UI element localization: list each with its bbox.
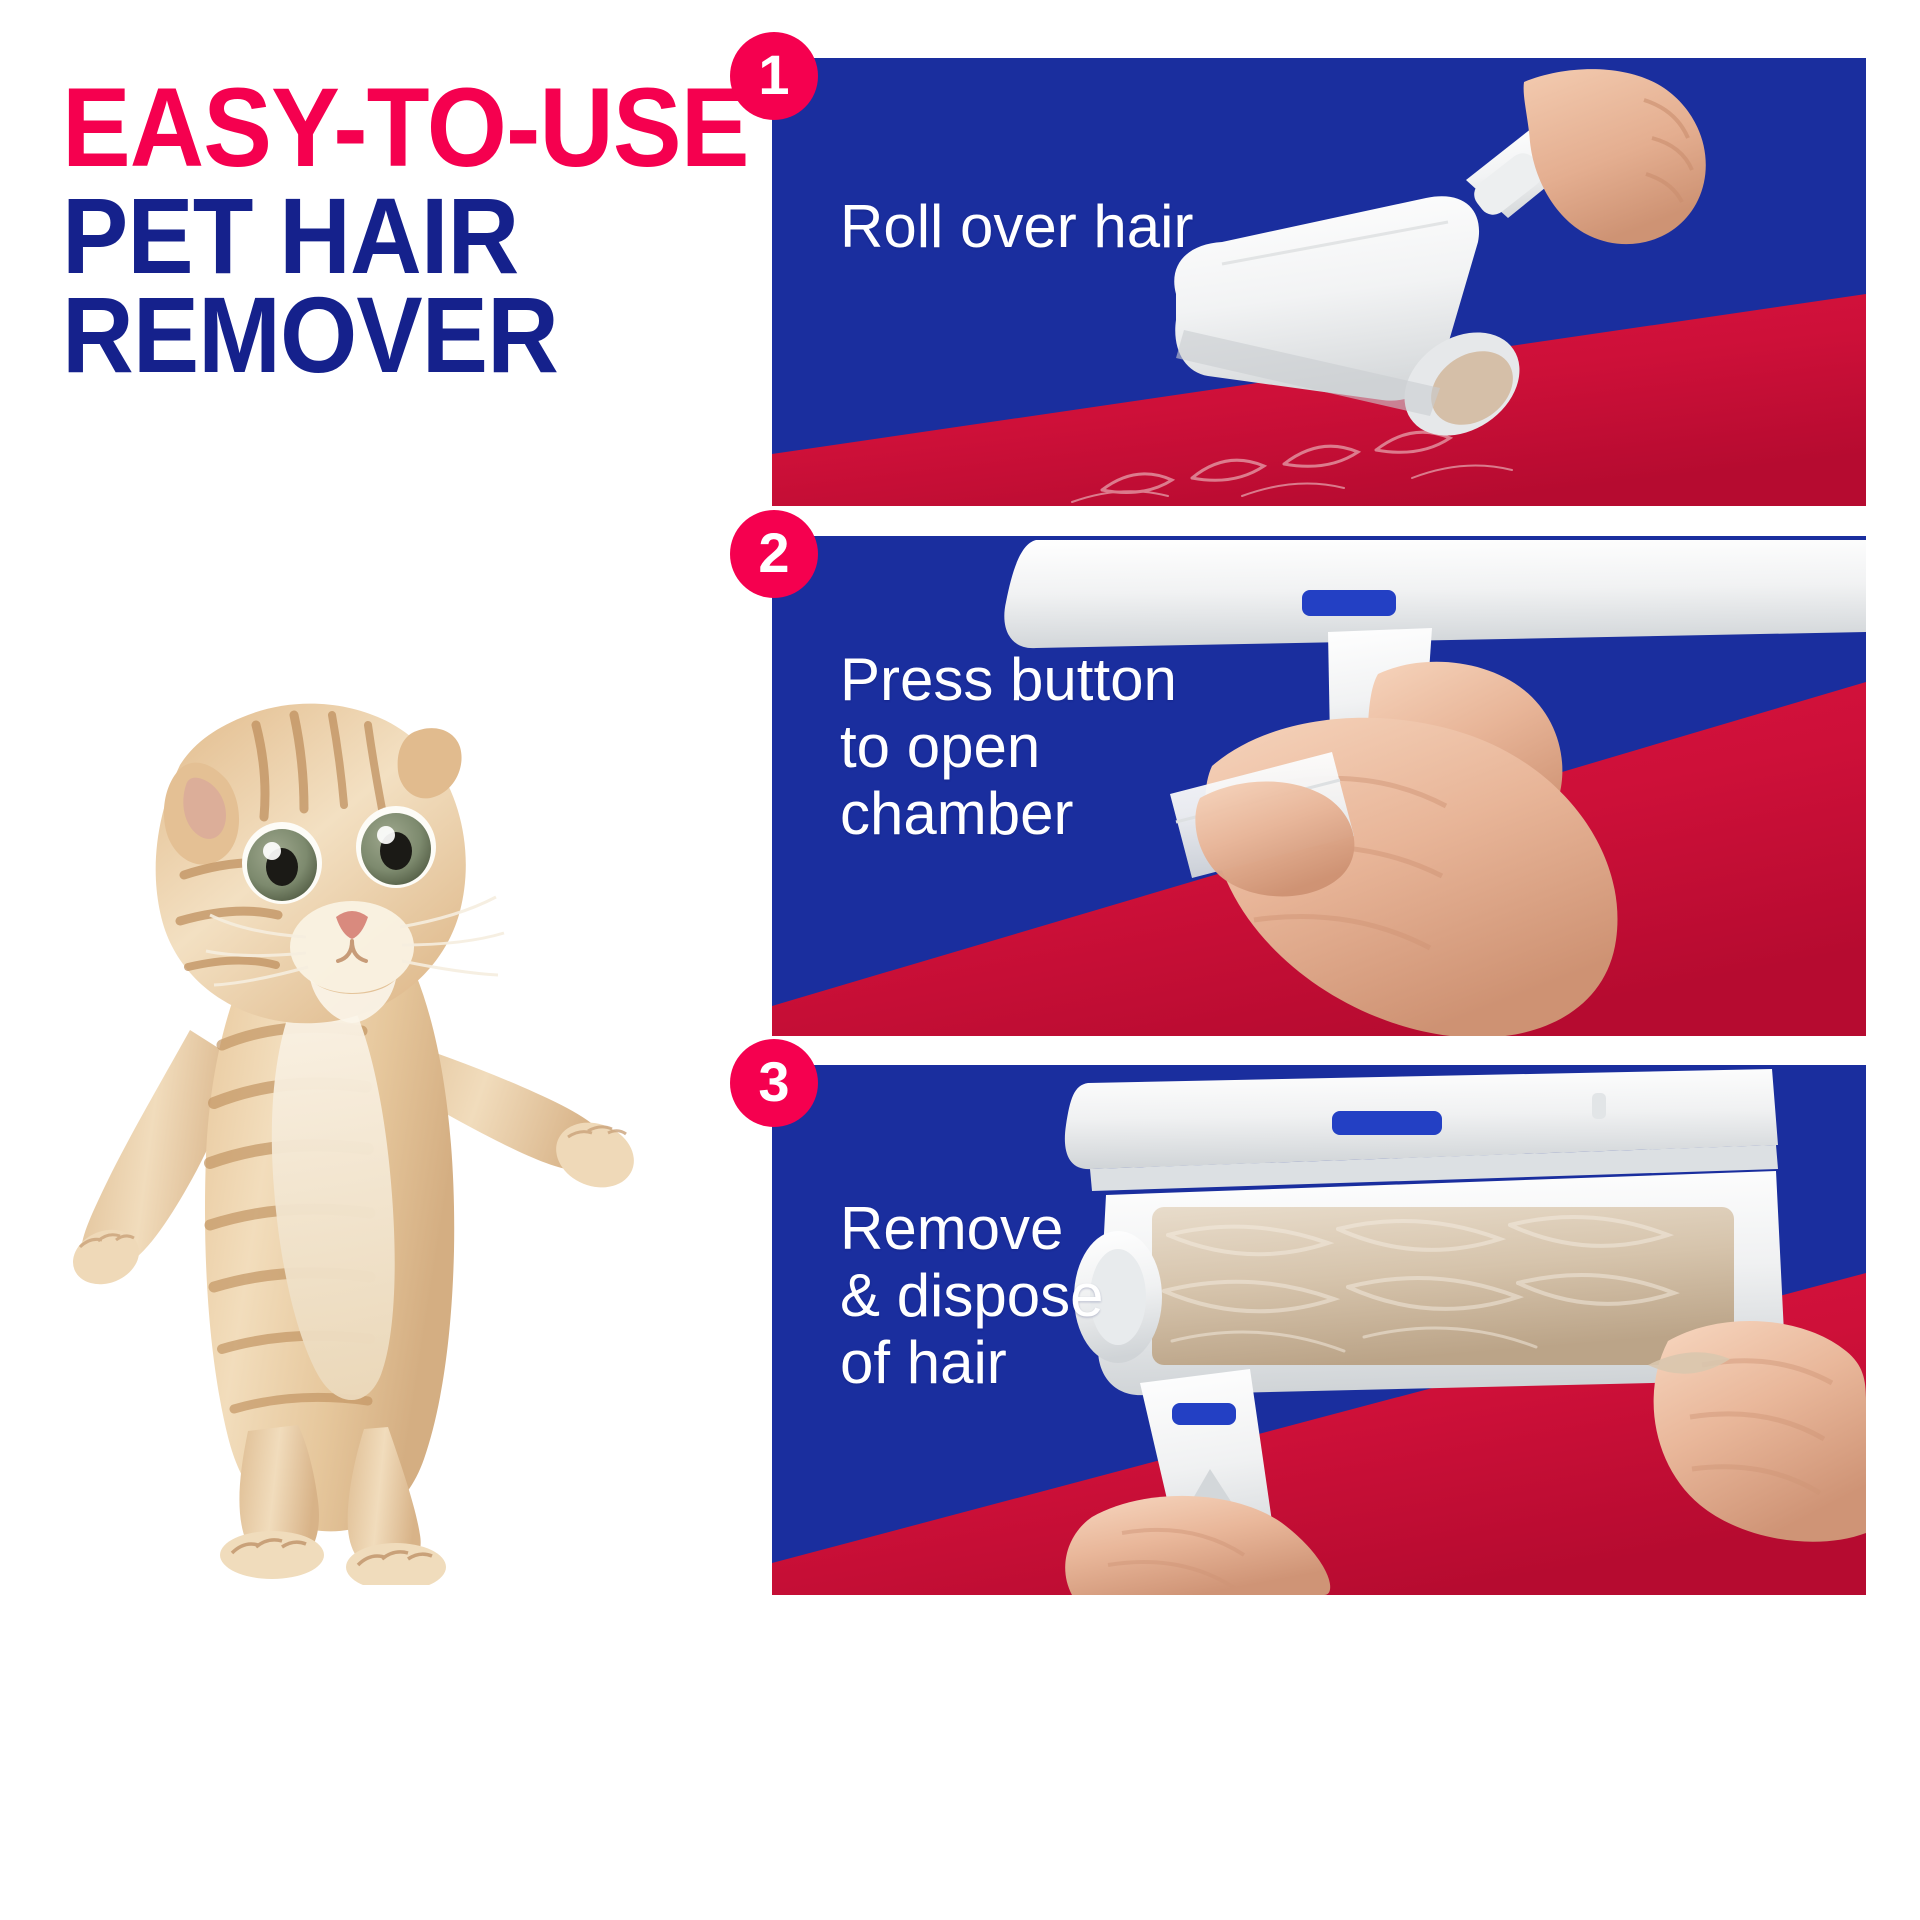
- cat-right-ear: [398, 728, 462, 798]
- infographic-canvas: EASY-TO-USE PET HAIR REMOVER: [0, 0, 1920, 1920]
- step-badge-2: 2: [730, 510, 818, 598]
- step-badge-1: 1: [730, 32, 818, 120]
- step-1-caption: Roll over hair: [840, 193, 1193, 260]
- chamber-button-blue: [1172, 1403, 1236, 1425]
- headline-block: EASY-TO-USE PET HAIR REMOVER: [62, 78, 762, 383]
- lid-latch-blue: [1332, 1111, 1442, 1135]
- step-badge-3: 3: [730, 1039, 818, 1127]
- step-panel-1[interactable]: Roll over hair 1: [772, 58, 1866, 506]
- step-2-caption: Press button to open chamber: [840, 646, 1177, 848]
- step-badge-1-number: 1: [758, 47, 789, 103]
- steps-column: Roll over hair 1: [772, 58, 1866, 1858]
- step-panel-3-body: Remove & dispose of hair: [772, 1065, 1866, 1595]
- step-panel-2-body: Press button to open chamber: [772, 536, 1866, 1036]
- release-button-blue: [1302, 590, 1396, 616]
- headline-line-3: REMOVER: [62, 286, 706, 383]
- cat-photo: [60, 575, 700, 1585]
- step-panel-3[interactable]: Remove & dispose of hair 3: [772, 1065, 1866, 1595]
- headline-line-2: PET HAIR: [62, 187, 706, 284]
- step-badge-3-number: 3: [758, 1054, 789, 1110]
- step-badge-2-number: 2: [758, 525, 789, 581]
- step-panel-2[interactable]: Press button to open chamber 2: [772, 536, 1866, 1036]
- headline-line-1: EASY-TO-USE: [62, 78, 706, 179]
- step-panel-1-body: Roll over hair: [772, 58, 1866, 506]
- cat-illustration: [60, 575, 700, 1585]
- roller-over-hair-photo: [772, 58, 1866, 506]
- step-3-caption: Remove & dispose of hair: [840, 1195, 1104, 1397]
